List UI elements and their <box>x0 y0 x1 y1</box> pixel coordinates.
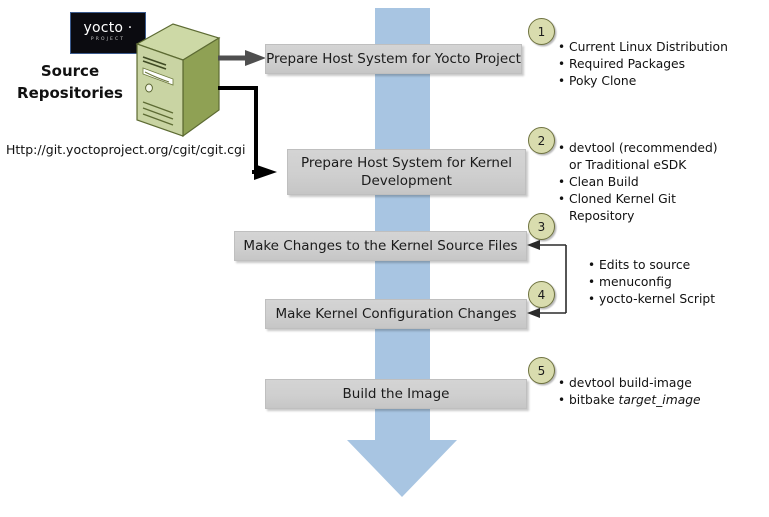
step-marker-5: 5 <box>528 357 555 384</box>
notes-step-5-bitbake-target: target_image <box>619 393 701 407</box>
notes-steps-3-4-item: menuconfig <box>599 274 769 291</box>
notes-step-2: devtool (recommended) or Traditional eSD… <box>556 140 731 225</box>
notes-steps-3-4-item: yocto-kernel Script <box>599 291 769 308</box>
step-marker-1: 1 <box>528 18 555 45</box>
step-marker-4-number: 4 <box>538 288 546 302</box>
diagram-canvas: yocto · PROJECT Source Repositories Http… <box>0 0 769 517</box>
notes-step-2-item: Clean Build <box>569 174 731 191</box>
notes-step-1-item: Poky Clone <box>569 73 766 90</box>
step-marker-3: 3 <box>528 213 555 240</box>
step-marker-2: 2 <box>528 127 555 154</box>
notes-step-5: devtool build-image bitbake target_image <box>556 375 756 409</box>
notes-step-1: Current Linux Distribution Required Pack… <box>556 39 766 90</box>
step-marker-4: 4 <box>528 281 555 308</box>
notes-step-1-item: Required Packages <box>569 56 766 73</box>
notes-step-5-bitbake-prefix: bitbake <box>569 393 619 407</box>
step-marker-1-number: 1 <box>538 25 546 39</box>
notes-step-2-item: Cloned Kernel Git Repository <box>569 191 731 225</box>
step-marker-3-number: 3 <box>538 220 546 234</box>
notes-steps-3-4: Edits to source menuconfig yocto-kernel … <box>586 257 769 308</box>
notes-step-5-item: devtool build-image <box>569 375 756 392</box>
notes-step-2-item: devtool (recommended) or Traditional eSD… <box>569 140 731 174</box>
step-marker-5-number: 5 <box>538 364 546 378</box>
step-marker-2-number: 2 <box>538 134 546 148</box>
notes-step-5-item-bitbake: bitbake target_image <box>569 392 756 409</box>
notes-steps-3-4-item: Edits to source <box>599 257 769 274</box>
notes-step-1-item: Current Linux Distribution <box>569 39 766 56</box>
